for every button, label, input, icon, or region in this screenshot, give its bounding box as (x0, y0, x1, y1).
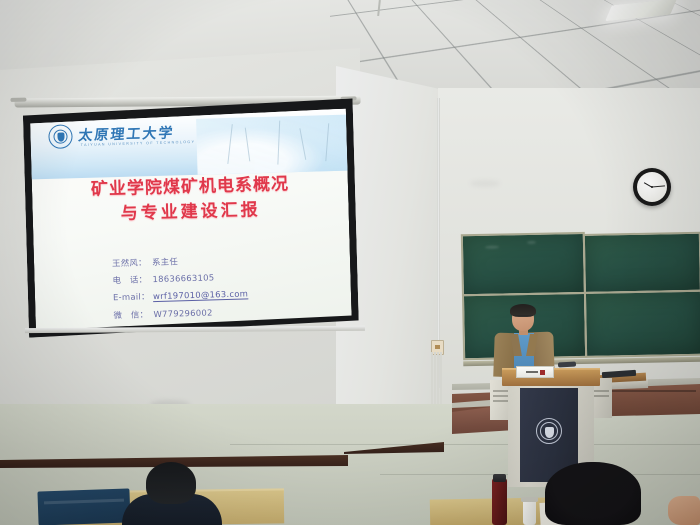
slide-banner: 太原理工大学 TAIYUAN UNIVERSITY OF TECHNOLOGY (30, 109, 348, 180)
microphone-icon[interactable] (558, 362, 576, 368)
contact-value-phone: 18636663105 (152, 273, 214, 285)
contact-value-email[interactable]: wrf197010@163.com (153, 289, 248, 302)
chalkboard-panel (461, 232, 586, 296)
contact-value-wechat: W779296002 (153, 307, 213, 319)
screen-frame: 太原理工大学 TAIYUAN UNIVERSITY OF TECHNOLOGY … (23, 98, 359, 337)
audience-hand (668, 496, 700, 525)
chalkboard-panel (584, 290, 700, 358)
presentation-slide: 太原理工大学 TAIYUAN UNIVERSITY OF TECHNOLOGY … (30, 109, 352, 331)
contact-label-wechat: 微 信： (113, 306, 153, 324)
slide-title: 矿业学院煤矿机电系概况 与专业建设汇报 (32, 171, 349, 229)
banner-artwork (196, 115, 348, 175)
chalkboard-panel (583, 232, 700, 294)
pull-down-projection-screen[interactable]: 太原理工大学 TAIYUAN UNIVERSITY OF TECHNOLOGY … (23, 94, 360, 353)
paper-cup[interactable] (523, 500, 536, 525)
screen-bracket-left (10, 98, 26, 102)
speaker-nameplate (516, 366, 554, 378)
clock-minute-hand (652, 185, 665, 187)
clock-center (651, 186, 654, 189)
contact-value-name: 系主任 (152, 256, 178, 267)
cup-lid (521, 497, 538, 502)
university-seal-icon (536, 418, 562, 444)
audience-hair (545, 462, 641, 525)
red-thermos[interactable] (492, 478, 507, 525)
audience-suit-hair (146, 462, 196, 504)
audience-member-suit (116, 462, 226, 525)
university-logo-icon (48, 124, 73, 149)
slide-contact-block: 王然风：系主任 电 话：18636663105 E-mail：wrf197010… (112, 249, 344, 324)
glasses-icon (513, 315, 533, 320)
clock-face (637, 172, 667, 202)
wall-clock (633, 168, 671, 206)
contact-label-email: E-mail： (113, 289, 153, 307)
contact-label-name: 王然风： (112, 254, 152, 272)
audience-member-long-hair (545, 462, 641, 525)
contact-label-phone: 电 话： (112, 271, 152, 289)
wall-smudge (470, 180, 500, 187)
thermos-cap (493, 474, 506, 482)
lecture-hall-photo: 太原理工大学 TAIYUAN UNIVERSITY OF TECHNOLOGY … (0, 0, 700, 525)
screen-bottom-bar (25, 326, 365, 333)
